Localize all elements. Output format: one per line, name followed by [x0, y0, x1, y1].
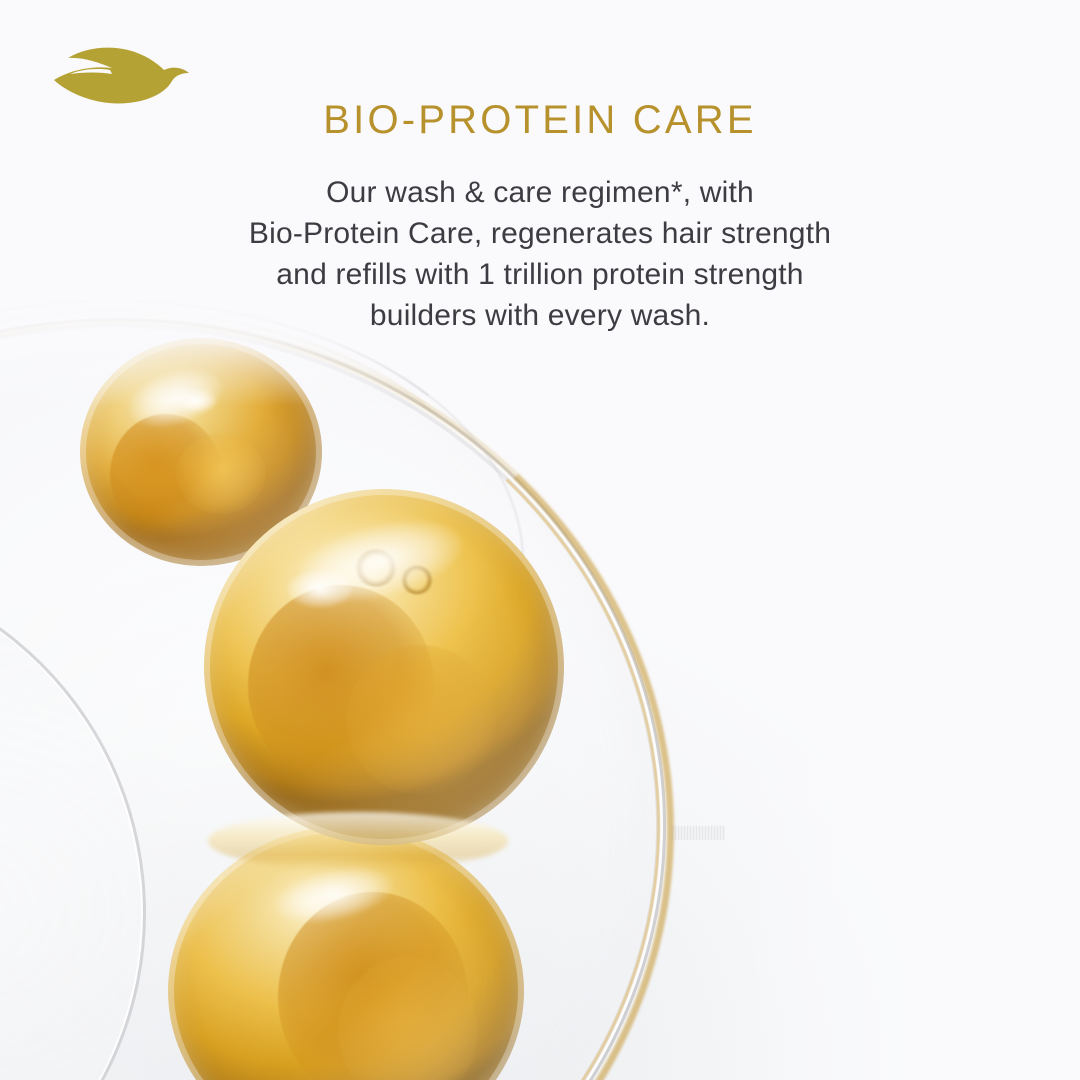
body-copy-line: Our wash & care regimen*, with: [140, 172, 940, 213]
body-copy-line: Bio-Protein Care, regenerates hair stren…: [140, 213, 940, 254]
ad-creative-canvas: BIO-PROTEIN CARE Our wash & care regimen…: [0, 0, 1080, 1080]
body-copy-line: and refills with 1 trillion protein stre…: [140, 254, 940, 295]
oil-sphere-large: [204, 489, 564, 845]
body-copy: Our wash & care regimen*, with Bio-Prote…: [140, 172, 940, 336]
body-copy-line: builders with every wash.: [140, 295, 940, 336]
oil-sphere-contact-seam: [208, 812, 508, 870]
product-photo: [0, 0, 1080, 1080]
glass-speckle: [672, 826, 724, 840]
oil-sphere-large-shell: [204, 489, 564, 845]
page-title: BIO-PROTEIN CARE: [0, 98, 1080, 143]
